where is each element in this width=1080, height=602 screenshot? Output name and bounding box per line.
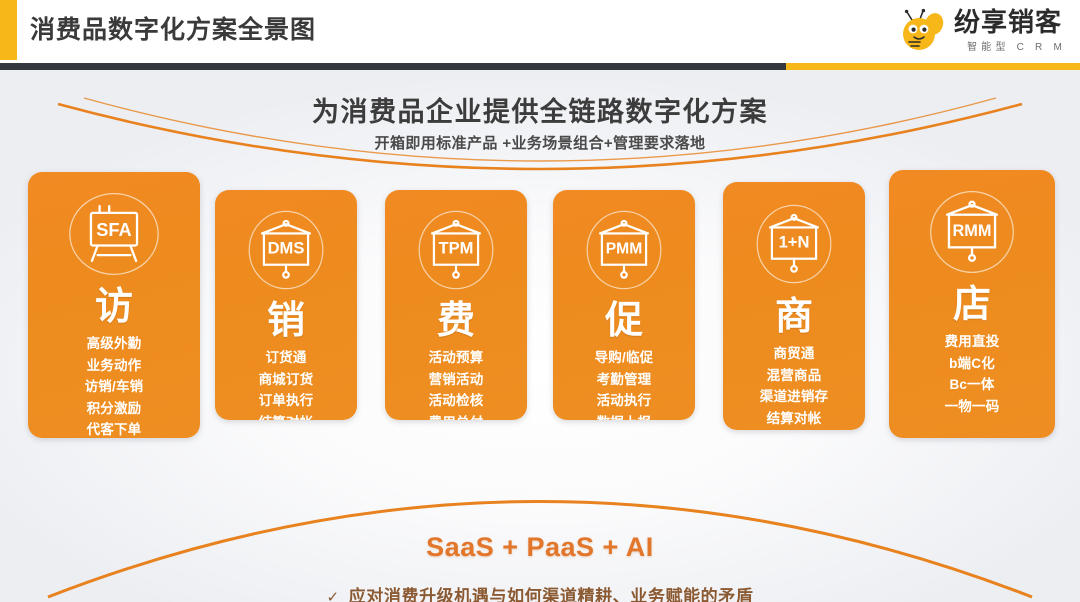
card-item: 费用直投 (945, 332, 1000, 352)
card-title: 费 (437, 302, 475, 340)
card-title: 商 (775, 298, 813, 336)
card-item: 业务动作 (87, 356, 142, 376)
card-item: 商城订货 (259, 370, 314, 390)
benefit-text: 应对消费升级机遇与如何渠道精耕、业务赋能的矛盾 (349, 582, 754, 602)
card-item: 访销/车销 (85, 377, 144, 397)
slide-body: 为消费品企业提供全链路数字化方案 开箱即用标准产品 +业务场景组合+管理要求落地 (0, 70, 1080, 602)
card-item: 混营商品 (767, 366, 822, 386)
card-item: 一物一码 (945, 397, 1000, 417)
card-item: 积分激励 (87, 399, 142, 419)
card-title: 访 (95, 288, 133, 326)
solution-card-sfa[interactable]: SFA 访 高级外勤 业务动作 访销/车销 积分激励 代客下单 AI应用 (28, 172, 200, 438)
card-item: 费用兑付 (429, 413, 484, 420)
card-item: 订单执行 (259, 391, 314, 411)
card-icon-label: RMM (953, 222, 992, 240)
slide-header: 消费品数字化方案全景图 (0, 0, 1080, 68)
card-item: 高级外勤 (87, 334, 142, 354)
card-item: b端C化 (949, 354, 995, 374)
solution-card-tpm[interactable]: TPM 费 活动预算 营销活动 活动检核 费用兑付 (385, 190, 527, 420)
card-icon-label: 1+N (779, 233, 810, 252)
benefit-list: ✓ 应对消费升级机遇与如何渠道精耕、业务赋能的矛盾 ✓ 解决企业内部管理软件与营… (0, 582, 1080, 602)
card-icon-label: TPM (439, 239, 474, 258)
page-title: 消费品数字化方案全景图 (30, 10, 316, 46)
card-item: 活动检核 (429, 391, 484, 411)
card-item: 结算对帐 (767, 409, 822, 429)
card-item-list: 商贸通 混营商品 渠道进销存 结算对帐 (760, 344, 829, 428)
card-item: 订货通 (265, 348, 306, 368)
card-icon-label: SFA (96, 219, 131, 240)
brand-name: 纷享销客 (954, 9, 1062, 36)
card-icon-label: PMM (606, 241, 642, 258)
solution-card-pmm[interactable]: PMM 促 导购/临促 考勤管理 活动执行 数据上报 (553, 190, 695, 420)
brand-tagline: 智能型 C R M (967, 38, 1066, 53)
card-item: 考勤管理 (597, 370, 652, 390)
slide-root: 消费品数字化方案全景图 (0, 0, 1080, 602)
bee-mascot-icon (898, 7, 946, 55)
card-item: 活动预算 (429, 348, 484, 368)
projection-screen-icon: TPM (408, 204, 504, 296)
card-item: 数据上报 (597, 413, 652, 420)
solution-card-row: SFA 访 高级外勤 业务动作 访销/车销 积分激励 代客下单 AI应用 (0, 70, 1080, 450)
card-item-list: 导购/临促 考勤管理 活动执行 数据上报 (595, 348, 654, 420)
card-item-list: 活动预算 营销活动 活动检核 费用兑付 (429, 348, 484, 420)
header-rule-dark (0, 63, 786, 70)
card-icon-label: DMS (268, 239, 305, 258)
solution-card-dms[interactable]: DMS 销 订货通 商城订货 订单执行 结算对帐 (215, 190, 357, 420)
projection-screen-icon: RMM (924, 184, 1020, 280)
card-item-list: 高级外勤 业务动作 访销/车销 积分激励 代客下单 AI应用 (85, 334, 144, 438)
card-title: 销 (267, 302, 305, 340)
header-rule-gold (786, 63, 1080, 70)
projection-screen-icon: 1+N (746, 196, 842, 292)
brand-logo-text: 纷享销客 智能型 C R M (954, 9, 1062, 52)
check-icon: ✓ (327, 588, 340, 602)
card-item-list: 订货通 商城订货 订单执行 结算对帐 (259, 348, 314, 420)
easel-board-icon: SFA (66, 186, 162, 282)
card-item: 导购/临促 (595, 348, 654, 368)
card-item: 营销活动 (429, 370, 484, 390)
projection-screen-icon: PMM (576, 204, 672, 296)
solution-card-1n[interactable]: 1+N 商 商贸通 混营商品 渠道进销存 结算对帐 (723, 182, 865, 430)
card-item: 结算对帐 (259, 413, 314, 420)
card-item: 商贸通 (773, 344, 814, 364)
header-accent-bar (0, 0, 17, 60)
card-title: 促 (605, 302, 643, 340)
solution-card-rmm[interactable]: RMM 店 费用直投 b端C化 Bc一体 一物一码 (889, 170, 1055, 438)
card-title: 店 (953, 286, 991, 324)
benefit-item: ✓ 应对消费升级机遇与如何渠道精耕、业务赋能的矛盾 (327, 582, 754, 602)
projection-screen-icon: DMS (238, 204, 334, 296)
card-item: 活动执行 (597, 391, 652, 411)
platform-label: SaaS + PaaS + AI (0, 532, 1080, 563)
card-item: 代客下单 (87, 420, 142, 438)
card-item: Bc一体 (949, 375, 994, 395)
brand-logo: 纷享销客 智能型 C R M (898, 3, 1062, 59)
card-item: 渠道进销存 (760, 387, 829, 407)
card-item-list: 费用直投 b端C化 Bc一体 一物一码 (945, 332, 1000, 416)
